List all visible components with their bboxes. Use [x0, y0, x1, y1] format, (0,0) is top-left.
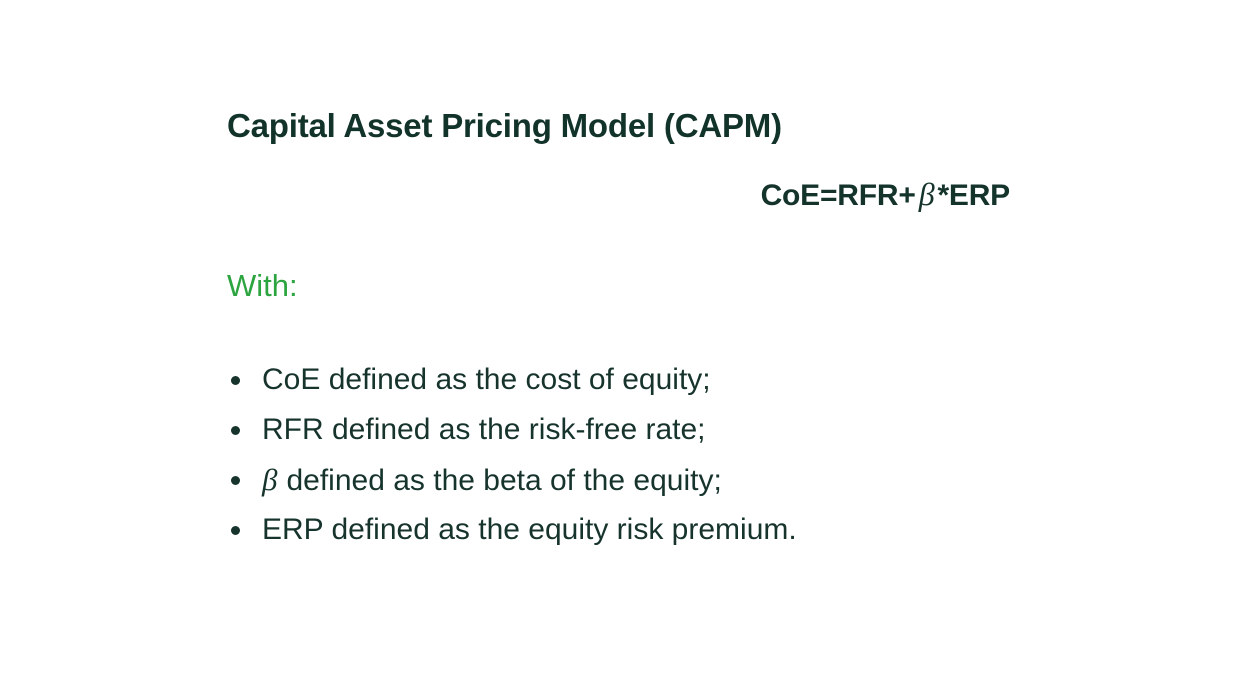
- formula-prefix: CoE=RFR+: [761, 179, 916, 212]
- formula-row: CoE=RFR+β*ERP: [0, 176, 1010, 213]
- list-item-label: βdefined as the beta of the equity;: [262, 464, 722, 497]
- with-label: With:: [227, 268, 298, 304]
- definitions-list: CoE defined as the cost of equity; RFR d…: [227, 355, 797, 555]
- capm-formula: CoE=RFR+β*ERP: [761, 176, 1010, 213]
- list-item-rest: defined as the beta of the equity;: [286, 464, 721, 497]
- page-title: Capital Asset Pricing Model (CAPM): [227, 107, 782, 145]
- list-item-label: CoE defined as the cost of equity;: [262, 363, 711, 396]
- formula-suffix: *ERP: [937, 179, 1010, 212]
- list-item: βdefined as the beta of the equity;: [227, 455, 797, 505]
- bullet-dot-icon: [231, 376, 240, 385]
- list-item: ERP defined as the equity risk premium.: [227, 505, 797, 555]
- slide-canvas: Capital Asset Pricing Model (CAPM) CoE=R…: [0, 0, 1244, 700]
- beta-symbol-icon: β: [262, 462, 286, 497]
- list-item-label: RFR defined as the risk-free rate;: [262, 413, 706, 446]
- bullet-dot-icon: [231, 476, 240, 485]
- bullet-dot-icon: [231, 426, 240, 435]
- list-item-label: ERP defined as the equity risk premium.: [262, 513, 797, 546]
- list-item: RFR defined as the risk-free rate;: [227, 405, 797, 455]
- bullet-dot-icon: [231, 526, 240, 535]
- beta-symbol-icon: β: [916, 176, 938, 212]
- list-item: CoE defined as the cost of equity;: [227, 355, 797, 405]
